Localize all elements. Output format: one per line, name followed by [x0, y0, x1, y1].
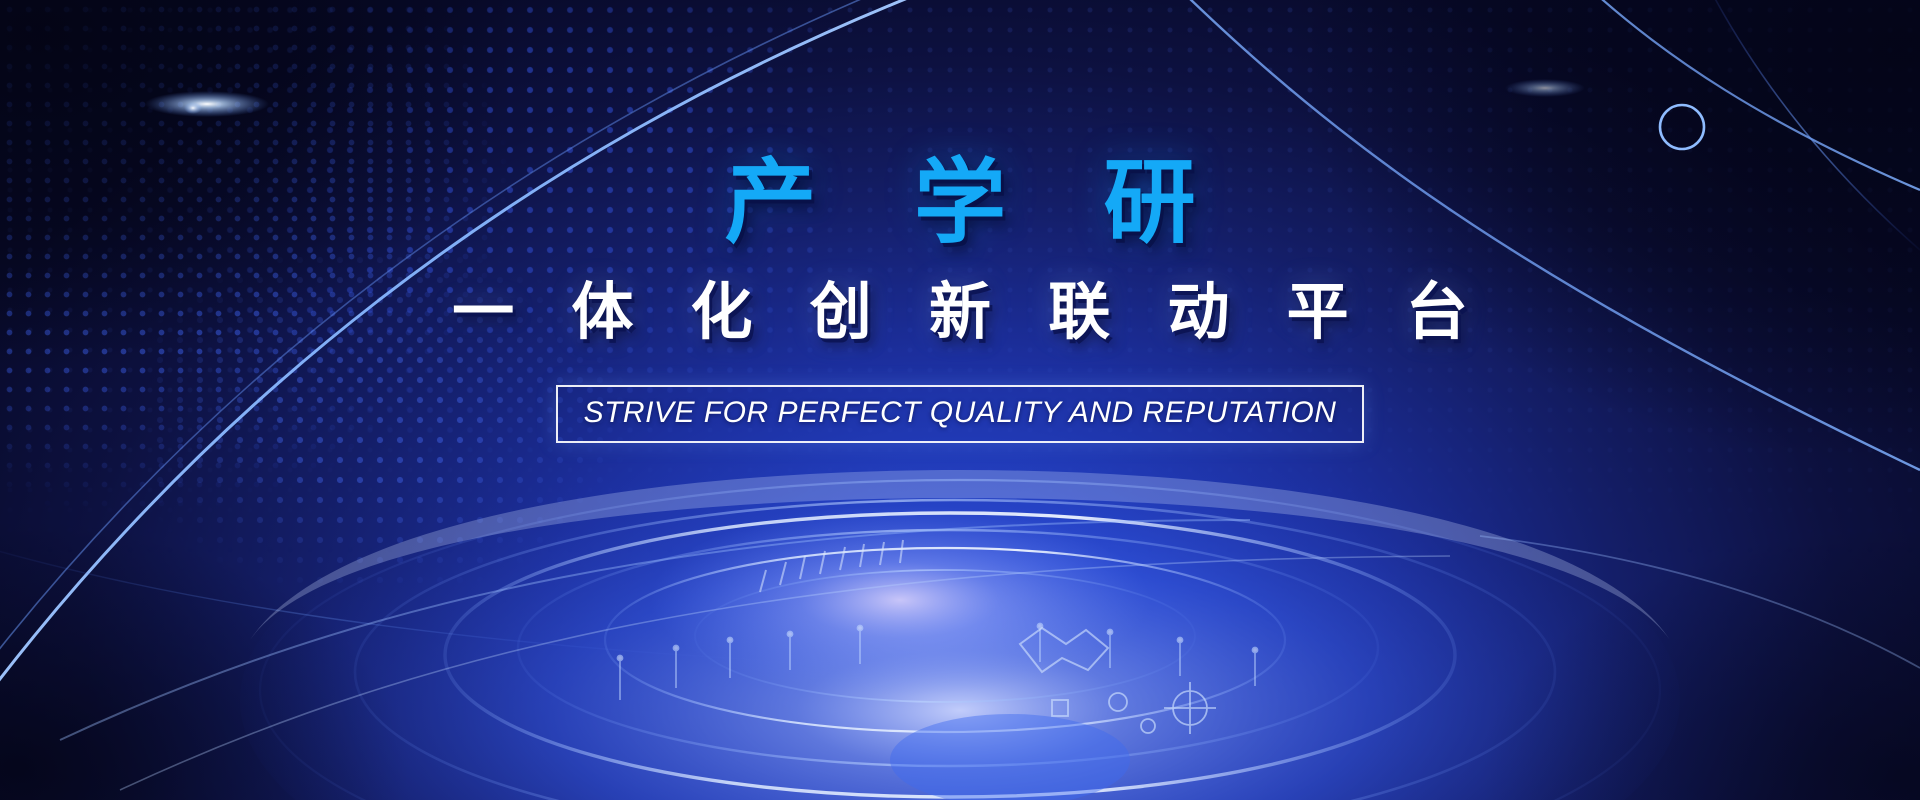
main-title: 产 学 研: [688, 152, 1231, 255]
slogan-text: STRIVE FOR PERFECT QUALITY AND REPUTATIO…: [584, 396, 1337, 430]
sub-title: 一 体 化 创 新 联 动 平 台: [432, 279, 1488, 347]
slogan-box: STRIVE FOR PERFECT QUALITY AND REPUTATIO…: [556, 385, 1365, 443]
hero-banner: 产 学 研 一 体 化 创 新 联 动 平 台 STRIVE FOR PERFE…: [0, 0, 1920, 800]
banner-content: 产 学 研 一 体 化 创 新 联 动 平 台 STRIVE FOR PERFE…: [0, 0, 1920, 800]
